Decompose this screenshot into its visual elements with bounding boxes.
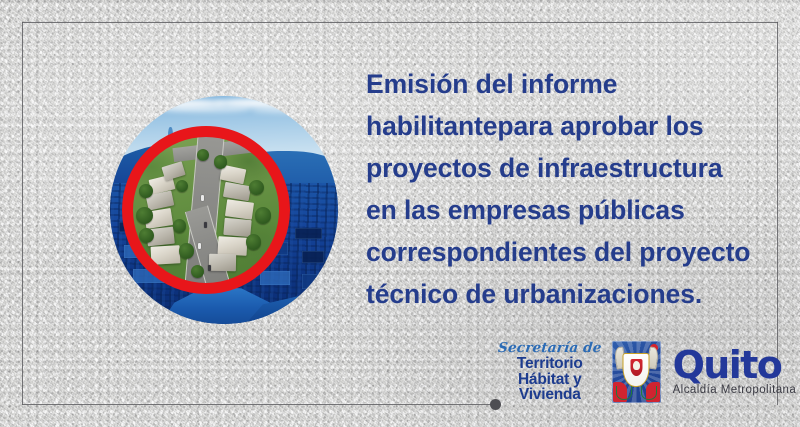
quito-logo: Quito Alcaldía Metropolitana [673, 348, 797, 397]
frame-border-left [22, 22, 23, 405]
secretaria-line: Hábitat y [498, 372, 602, 388]
headline-line: técnico de urbanizaciones. [366, 273, 766, 315]
escudo-de-quito-icon [612, 341, 661, 403]
red-highlight-ring [122, 126, 290, 294]
headline-line: habilitantepara aprobar los [366, 105, 766, 147]
frame-border-bottom [22, 404, 495, 405]
cloud-shape [251, 108, 333, 113]
coat-of-arms-shield [623, 353, 650, 387]
secretaria-script-label: Secretaría de [497, 342, 602, 356]
quito-wordmark: Quito [673, 348, 797, 382]
slide-canvas: Emisión del informe habilitantepara apro… [0, 0, 800, 427]
cloud-shape [160, 106, 251, 112]
coat-of-arms-palm [641, 386, 657, 400]
coat-of-arms-palm [616, 386, 632, 400]
secretaria-territorio-habitat-vivienda-logo: Secretaría de Territorio Hábitat y Vivie… [498, 342, 602, 403]
headline-line: en las empresas públicas [366, 189, 766, 231]
headline-line: proyectos de infraestructura [366, 147, 766, 189]
headline-text: Emisión del informe habilitantepara apro… [366, 63, 766, 315]
quito-subtitle: Alcaldía Metropolitana [673, 384, 797, 397]
secretaria-line: Territorio [498, 356, 602, 372]
secretaria-line: Vivienda [498, 387, 602, 403]
circular-aerial-photo [110, 96, 338, 324]
coat-of-arms-eagle [633, 361, 640, 370]
headline-line: correspondientes del proyecto [366, 231, 766, 273]
headline-line: Emisión del informe [366, 63, 766, 105]
logo-lockup: Secretaría de Territorio Hábitat y Vivie… [498, 341, 796, 403]
frame-border-top [22, 22, 778, 23]
